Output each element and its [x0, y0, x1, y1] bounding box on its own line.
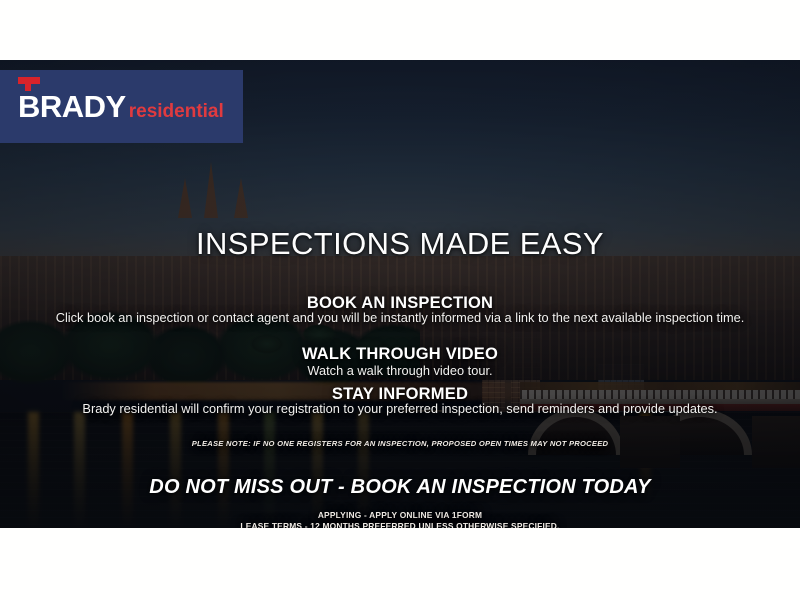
please-note-text: PLEASE NOTE: IF NO ONE REGISTERS FOR AN …: [0, 439, 800, 448]
section-title-walk-through-video: WALK THROUGH VIDEO: [0, 345, 800, 364]
call-to-action-text: DO NOT MISS OUT - BOOK AN INSPECTION TOD…: [0, 476, 800, 499]
lease-terms-line: LEASE TERMS - 12 MONTHS PREFERRED UNLESS…: [0, 521, 800, 528]
applying-line: APPLYING - APPLY ONLINE VIA 1FORM: [0, 510, 800, 520]
flyer-text-overlay: INSPECTIONS MADE EASY BOOK AN INSPECTION…: [0, 60, 800, 528]
page-title: INSPECTIONS MADE EASY: [0, 226, 800, 262]
section-body-stay-informed: Brady residential will confirm your regi…: [0, 401, 800, 416]
inspection-flyer: BRADY residential INSPECTIONS MADE EASY …: [0, 60, 800, 528]
section-body-book-an-inspection: Click book an inspection or contact agen…: [0, 310, 800, 325]
flyer-page: BRADY residential INSPECTIONS MADE EASY …: [0, 0, 800, 600]
section-body-walk-through-video: Watch a walk through video tour.: [0, 363, 800, 378]
